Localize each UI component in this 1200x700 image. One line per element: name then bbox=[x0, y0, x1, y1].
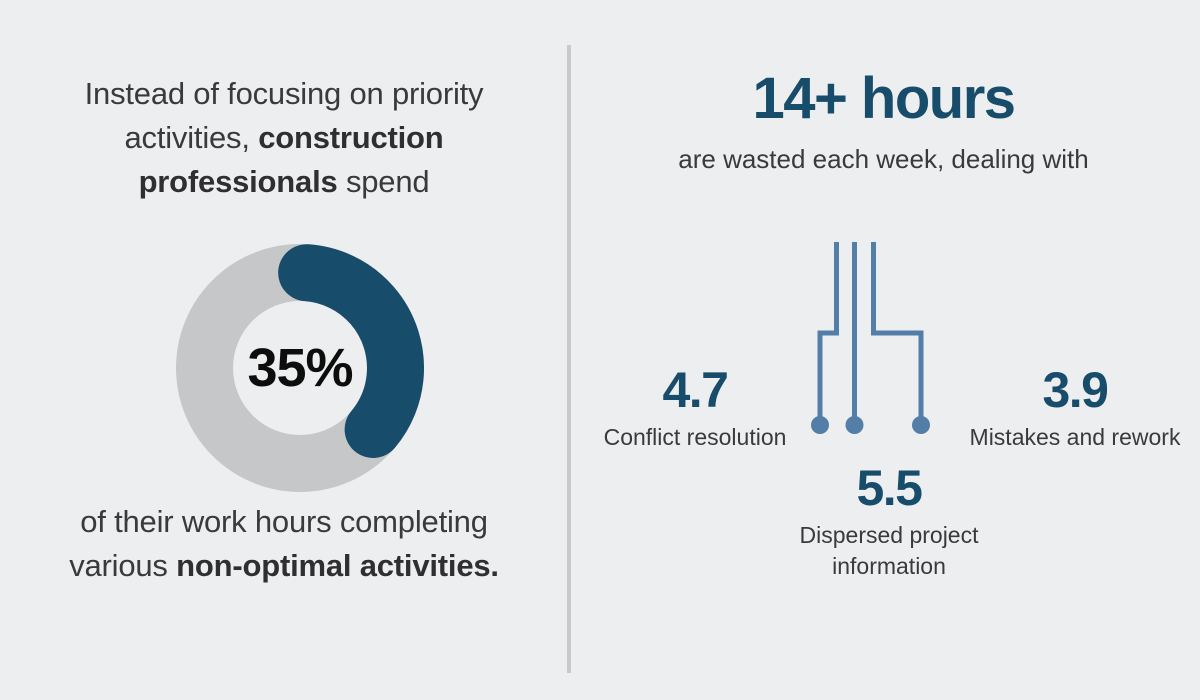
outro-statement: of their work hours completing various n… bbox=[30, 500, 538, 588]
stat-label-mistakes-and-rework: Mistakes and rework bbox=[965, 422, 1185, 453]
hours-headline: 14+ hours bbox=[567, 68, 1200, 130]
stat-block-mistakes-and-rework: 3.9 Mistakes and rework bbox=[965, 362, 1185, 453]
connector-line-right bbox=[874, 242, 922, 422]
stat-block-dispersed-project-information: 5.5 Dispersed project information bbox=[775, 460, 1003, 582]
donut-chart: 35% bbox=[176, 244, 424, 492]
stat-value-mistakes-and-rework: 3.9 bbox=[965, 362, 1185, 418]
stat-label-dispersed-project-information: Dispersed project information bbox=[775, 520, 1003, 582]
stat-value-dispersed-project-information: 5.5 bbox=[775, 460, 1003, 516]
stat-block-conflict-resolution: 4.7 Conflict resolution bbox=[585, 362, 805, 453]
connector-diagram bbox=[800, 230, 980, 445]
stat-value-conflict-resolution: 4.7 bbox=[585, 362, 805, 418]
left-panel: Instead of focusing on priority activiti… bbox=[0, 0, 567, 700]
connector-endpoint-left bbox=[811, 416, 829, 434]
stat-label-conflict-resolution: Conflict resolution bbox=[585, 422, 805, 453]
right-panel: 14+ hours are wasted each week, dealing … bbox=[567, 0, 1200, 700]
donut-center-value: 35% bbox=[176, 244, 424, 492]
connector-endpoint-center bbox=[846, 416, 864, 434]
intro-text-part2: spend bbox=[338, 164, 430, 199]
hours-subhead: are wasted each week, dealing with bbox=[627, 142, 1140, 176]
intro-statement: Instead of focusing on priority activiti… bbox=[30, 72, 538, 204]
infographic-canvas: Instead of focusing on priority activiti… bbox=[0, 0, 1200, 700]
outro-text-bold: non-optimal activities. bbox=[176, 548, 499, 583]
connector-diagram-svg bbox=[800, 230, 980, 445]
connector-line-left bbox=[820, 242, 837, 422]
connector-endpoint-right bbox=[912, 416, 930, 434]
